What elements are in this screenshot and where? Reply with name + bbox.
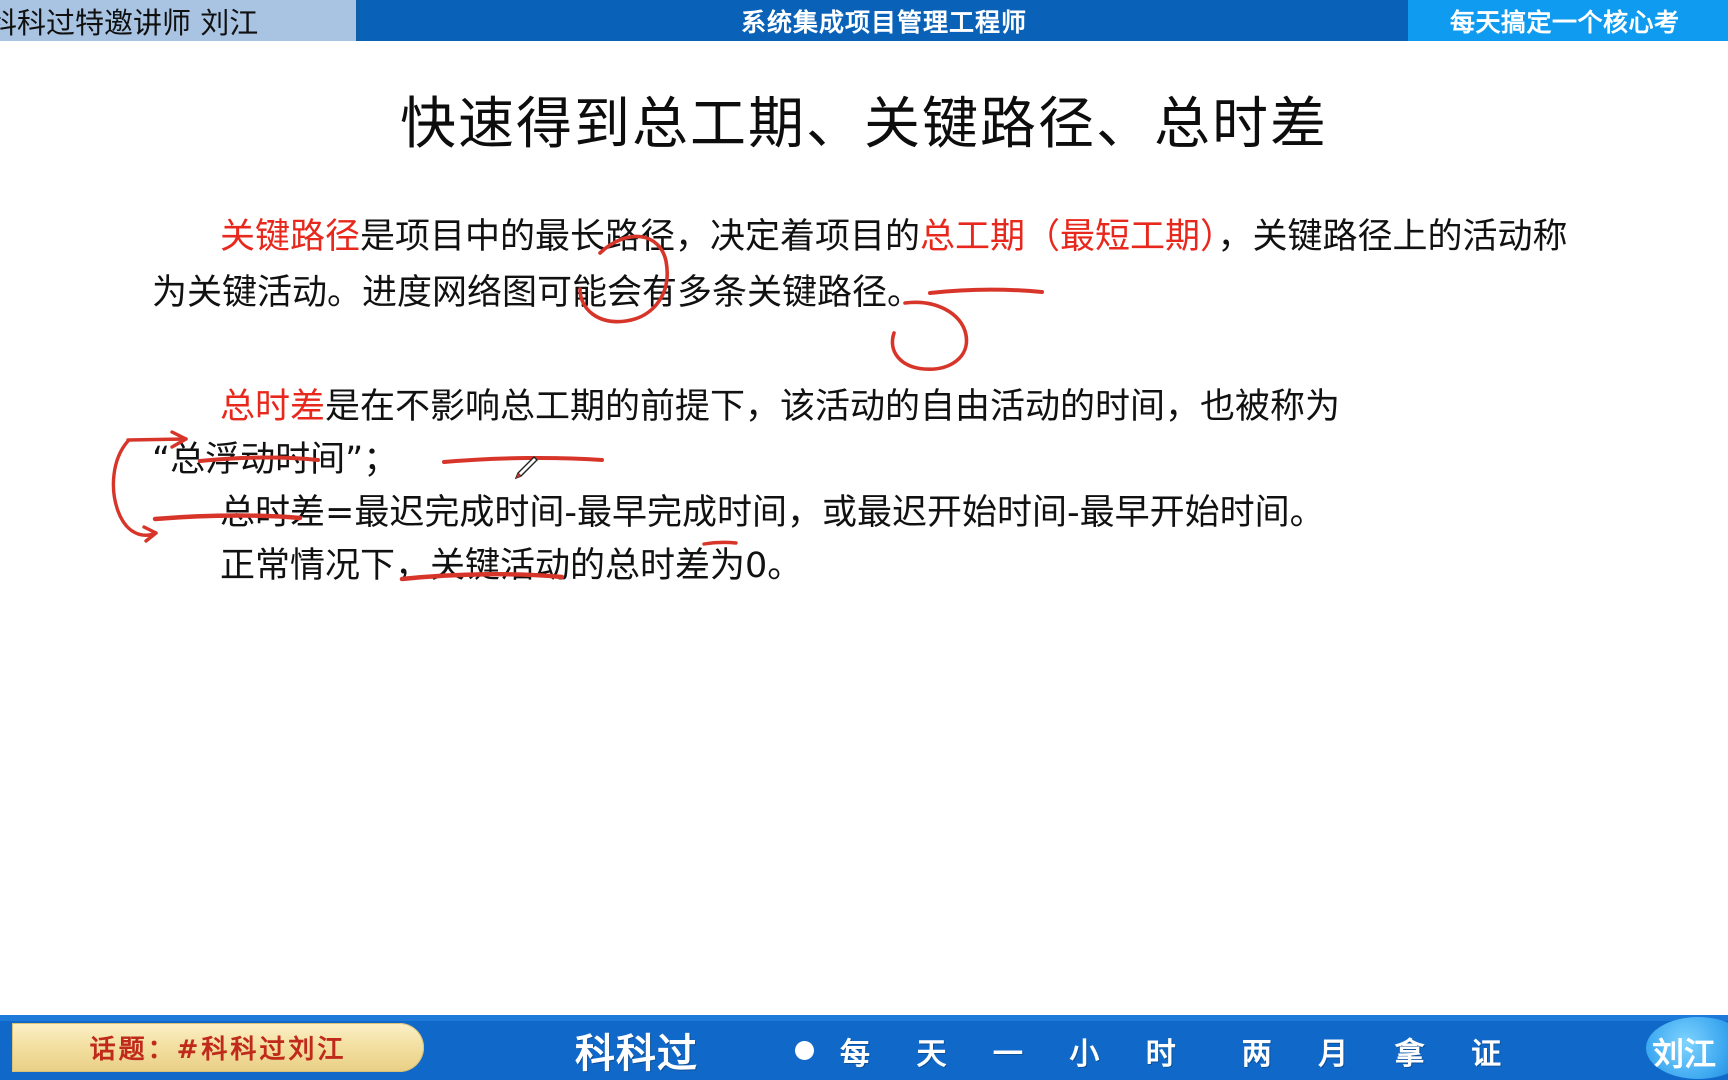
paragraph-total-float: 总时差是在不影响总工期的前提下，该活动的自由活动的时间，也被称为 “总浮动时间”… [152, 381, 1592, 593]
tagline: 每天搞定一个核心考 [1450, 3, 1680, 39]
brand-name: 科科过 [575, 1021, 698, 1079]
total-float-line-2: “总浮动时间”； [152, 434, 1592, 487]
topic-label: 话题：#科科过刘江 [90, 1029, 347, 1066]
top-bar-instructor-panel: 科科过特邀讲师 刘江 [0, 0, 360, 41]
bullet-dot-icon [795, 1041, 814, 1060]
pencil-cursor-icon [512, 454, 538, 480]
slide-canvas: 快速得到总工期、关键路径、总时差 关键路径是项目中的最长路径，决定着项目的总工期… [0, 41, 1728, 1015]
paragraph-critical-path: 关键路径是项目中的最长路径，决定着项目的总工期（最短工期），关键路径上的活动称为… [152, 209, 1572, 321]
top-bar-tagline-panel: 每天搞定一个核心考 [1408, 0, 1728, 41]
curve-left-bracket-annotation [113, 441, 156, 535]
total-float-line-1-rest: 是在不影响总工期的前提下，该活动的自由活动的时间，也被称为 [325, 387, 1340, 427]
total-float-line-4: 正常情况下，关键活动的总时差为0。 [152, 540, 1592, 593]
term-critical-path: 关键路径 [220, 217, 360, 257]
instructor-name: 科科过特邀讲师 刘江 [0, 0, 258, 41]
top-bar-course-panel: 系统集成项目管理工程师 [360, 0, 1408, 41]
critical-path-text-1: 是项目中的最长路径，决定着项目的 [360, 217, 920, 257]
total-float-line-3: 总时差=最迟完成时间-最早完成时间，或最迟开始时间-最早开始时间。 [152, 487, 1592, 540]
term-total-float: 总时差 [220, 387, 325, 427]
page-title: 快速得到总工期、关键路径、总时差 [0, 79, 1728, 160]
host-name: 刘江 [1652, 1029, 1716, 1075]
top-bar: 科科过特邀讲师 刘江 系统集成项目管理工程师 每天搞定一个核心考 [0, 0, 1728, 41]
host-badge: 刘江 [1646, 1017, 1728, 1079]
course-title: 系统集成项目管理工程师 [741, 3, 1027, 39]
total-float-line-1: 总时差是在不影响总工期的前提下，该活动的自由活动的时间，也被称为 [152, 381, 1592, 434]
bottom-bar: 话题：#科科过刘江 科科过 每 天 一 小 时 两 月 拿 证 刘江 [0, 1015, 1728, 1080]
topic-badge: 话题：#科科过刘江 [12, 1023, 424, 1072]
brand-slogan: 每 天 一 小 时 两 月 拿 证 [840, 1029, 1519, 1073]
term-total-duration: 总工期（最短工期） [920, 217, 1218, 257]
